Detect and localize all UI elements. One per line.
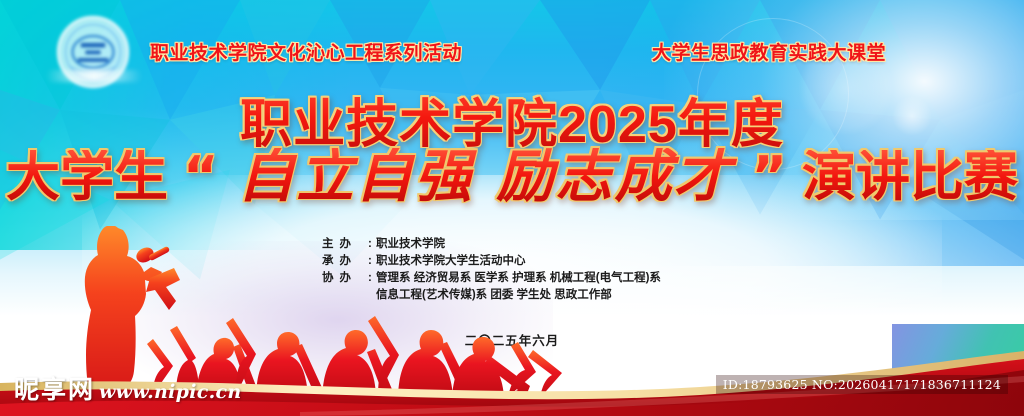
organizer-row: 承办 : 职业技术学院大学生活动中心 [322,253,661,270]
title-line-2: 大学生 “ 自立自强 励志成才 ” 演讲比赛 [0,146,1024,205]
strap-left: 职业技术学院文化沁心工程系列活动 [150,38,462,65]
close-quote: ” [752,150,788,204]
poster-banner: 职业技术学院文化沁心工程系列活动 大学生思政教育实践大课堂 职业技术学院2025… [0,0,1024,416]
organizer-continuation: 信息工程(艺术传媒)系 团委 学生处 思政工作部 [322,287,661,304]
open-quote: “ [183,150,219,204]
organizer-label: 协办 [322,270,368,287]
organizer-value: 职业技术学院 [376,236,445,253]
organizer-colon: : [368,270,376,287]
title-suffix: 演讲比赛 [802,150,1018,204]
organizer-colon: : [368,236,376,253]
organizer-label: 主办 [322,236,368,253]
footer-id-label: ID:18793625 NO:20260417171836711124 [716,375,1008,394]
organizer-row: 协办 : 管理系 经济贸易系 医学系 护理系 机械工程(电气工程)系 [322,270,661,287]
strap-right: 大学生思政教育实践大课堂 [652,38,886,65]
site-watermark: 昵享网 www.nipic.cn [14,370,242,406]
organizer-value: 管理系 经济贸易系 医学系 护理系 机械工程(电气工程)系 [376,270,661,287]
watermark-url: www.nipic.cn [99,381,241,403]
school-name-blur [46,70,142,82]
organizer-value: 职业技术学院大学生活动中心 [376,253,526,270]
title-calligraphy-b: 励志成才 [493,148,737,205]
organizer-block: 主办 : 职业技术学院 承办 : 职业技术学院大学生活动中心 协办 : 管理系 … [322,236,661,304]
organizer-row: 主办 : 职业技术学院 [322,236,661,253]
organizer-colon: : [368,253,376,270]
title-prefix: 大学生 [6,150,168,204]
event-date: 二〇二五年六月 [0,330,1024,349]
watermark-brand: 昵享网 [14,370,95,406]
organizer-label: 承办 [322,253,368,270]
title-calligraphy-a: 自立自强 [233,148,477,205]
corner-teal-strip [892,324,1024,372]
